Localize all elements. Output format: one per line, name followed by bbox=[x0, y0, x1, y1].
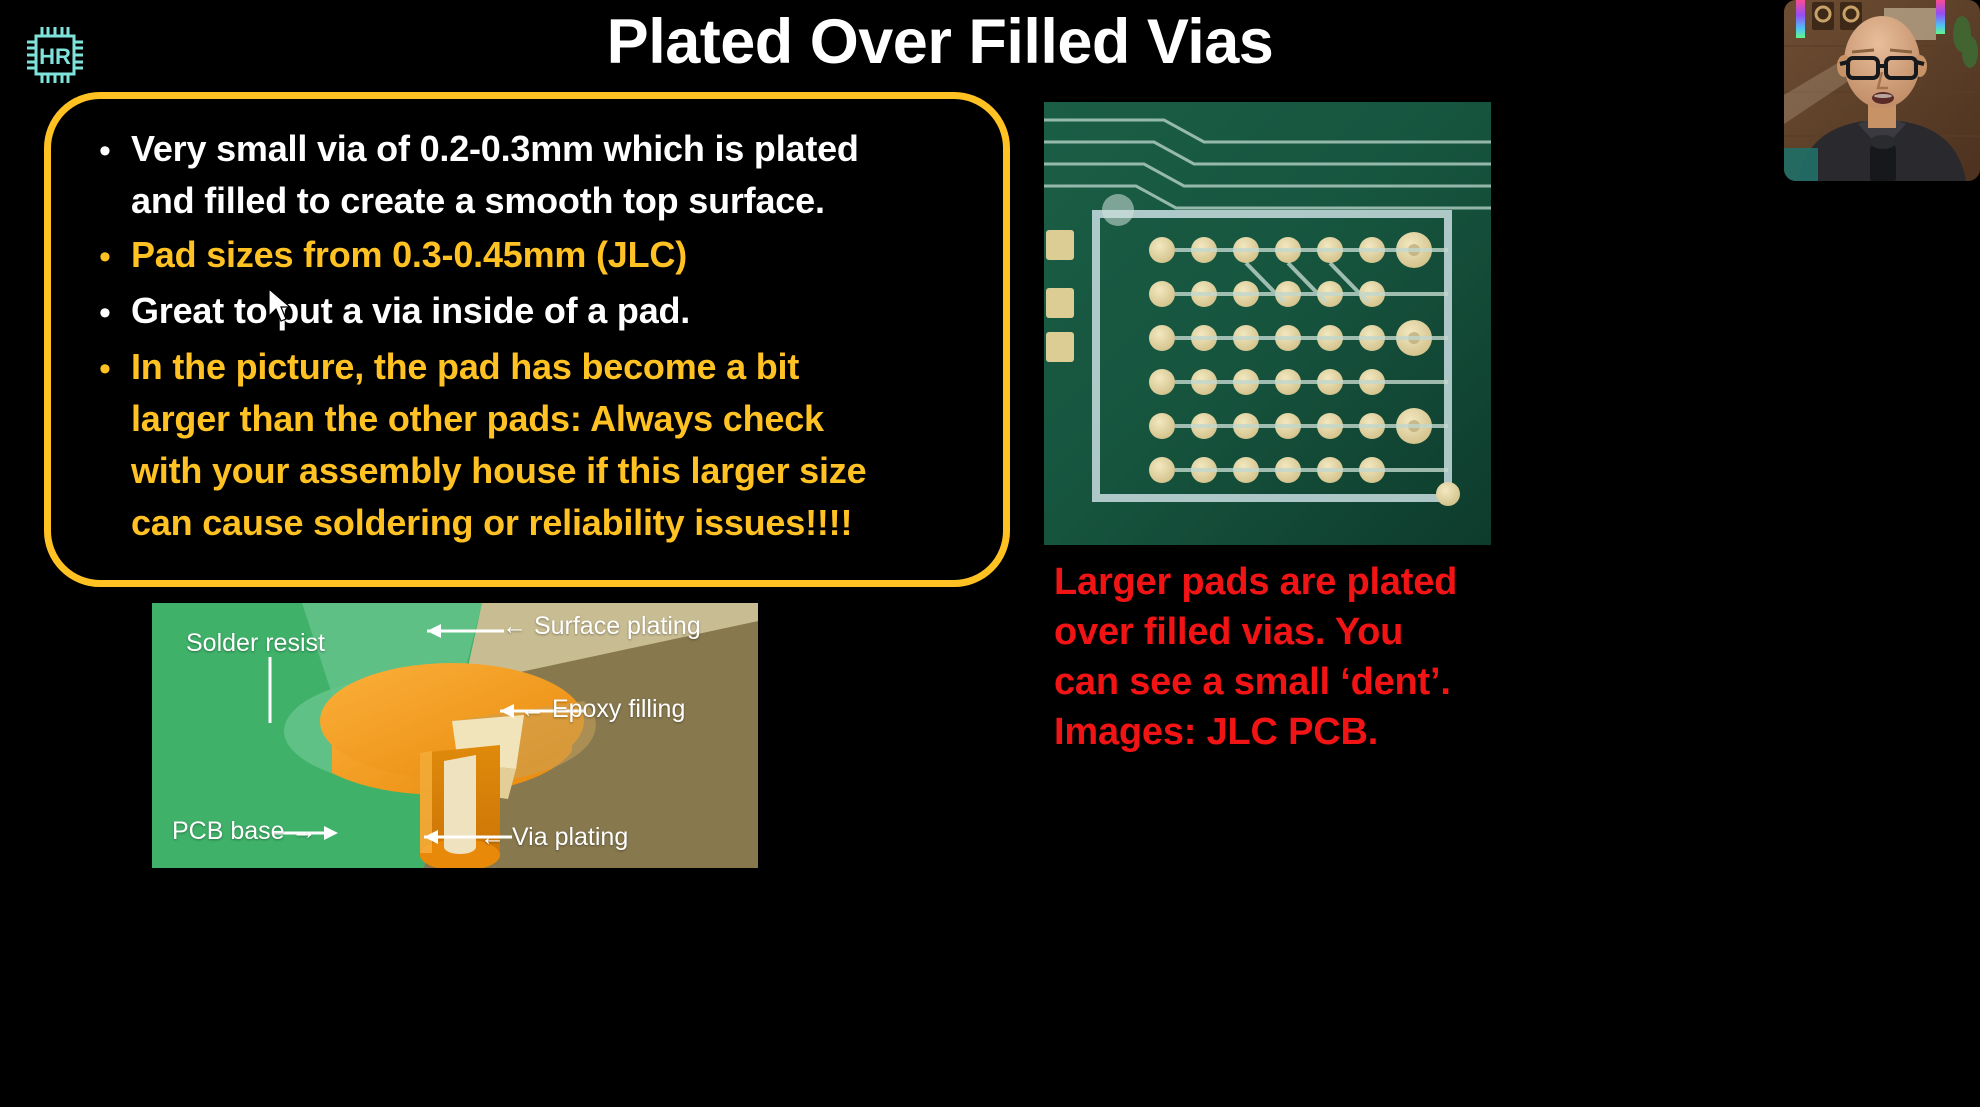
page-title: Plated Over Filled Vias bbox=[130, 6, 1750, 78]
list-item: • Very small via of 0.2-0.3mm which is p… bbox=[79, 123, 989, 227]
list-item: • Pad sizes from 0.3-0.45mm (JLC) bbox=[79, 229, 989, 283]
bullet-line: can cause soldering or reliability issue… bbox=[131, 502, 852, 543]
bullet-line: larger than the other pads: Always check bbox=[131, 398, 824, 439]
diagram-label-epoxy-filling: ← Epoxy filling bbox=[520, 695, 685, 724]
caption-line: can see a small ‘dent’. bbox=[1054, 657, 1614, 707]
bullet-list: • Very small via of 0.2-0.3mm which is p… bbox=[79, 123, 989, 551]
bullet-marker: • bbox=[79, 123, 131, 177]
image-credit-caption: Larger pads are plated over filled vias.… bbox=[1054, 557, 1614, 757]
bullet-line: with your assembly house if this larger … bbox=[131, 450, 866, 491]
diagram-label-surface-plating: ← Surface plating bbox=[502, 612, 701, 641]
diagram-label-via-plating: ← Via plating bbox=[480, 823, 628, 852]
diagram-label-solder-resist: Solder resist bbox=[186, 629, 325, 658]
bullet-marker: • bbox=[79, 229, 131, 283]
bullet-line: Pad sizes from 0.3-0.45mm (JLC) bbox=[131, 234, 687, 275]
caption-line: Images: JLC PCB. bbox=[1054, 707, 1614, 757]
bullet-line: Great to put a via inside of a pad. bbox=[131, 290, 690, 331]
bullet-text: In the picture, the pad has become a bit… bbox=[131, 341, 989, 549]
slide-root: HR Plated Over Filled Vias • Very small … bbox=[0, 0, 1980, 1107]
bullet-text: Great to put a via inside of a pad. bbox=[131, 285, 989, 337]
pcb-bga-pads-photo bbox=[1044, 102, 1491, 545]
list-item: • Great to put a via inside of a pad. bbox=[79, 285, 989, 339]
webcam-video-frame bbox=[1784, 0, 1980, 181]
bullet-line: and filled to create a smooth top surfac… bbox=[131, 180, 825, 221]
logo-letters: HR bbox=[39, 44, 71, 69]
via-cross-section-diagram: Solder resist ← Surface plating ← Epoxy … bbox=[152, 603, 758, 868]
bullet-marker: • bbox=[79, 285, 131, 339]
bullet-text: Very small via of 0.2-0.3mm which is pla… bbox=[131, 123, 989, 227]
presenter-webcam-overlay[interactable] bbox=[1784, 0, 1980, 181]
list-item: • In the picture, the pad has become a b… bbox=[79, 341, 989, 549]
caption-line: over filled vias. You bbox=[1054, 607, 1614, 657]
pcb-photo-graphic bbox=[1044, 102, 1491, 545]
bullet-line: In the picture, the pad has become a bit bbox=[131, 346, 799, 387]
bullet-callout-box: • Very small via of 0.2-0.3mm which is p… bbox=[44, 92, 1010, 587]
bullet-text: Pad sizes from 0.3-0.45mm (JLC) bbox=[131, 229, 989, 281]
diagram-label-pcb-base: PCB base → bbox=[172, 817, 317, 846]
caption-line: Larger pads are plated bbox=[1054, 557, 1614, 607]
bullet-line: Very small via of 0.2-0.3mm which is pla… bbox=[131, 128, 859, 169]
bullet-marker: • bbox=[79, 341, 131, 395]
chip-icon: HR bbox=[22, 22, 88, 88]
hr-chip-logo: HR bbox=[22, 22, 88, 88]
